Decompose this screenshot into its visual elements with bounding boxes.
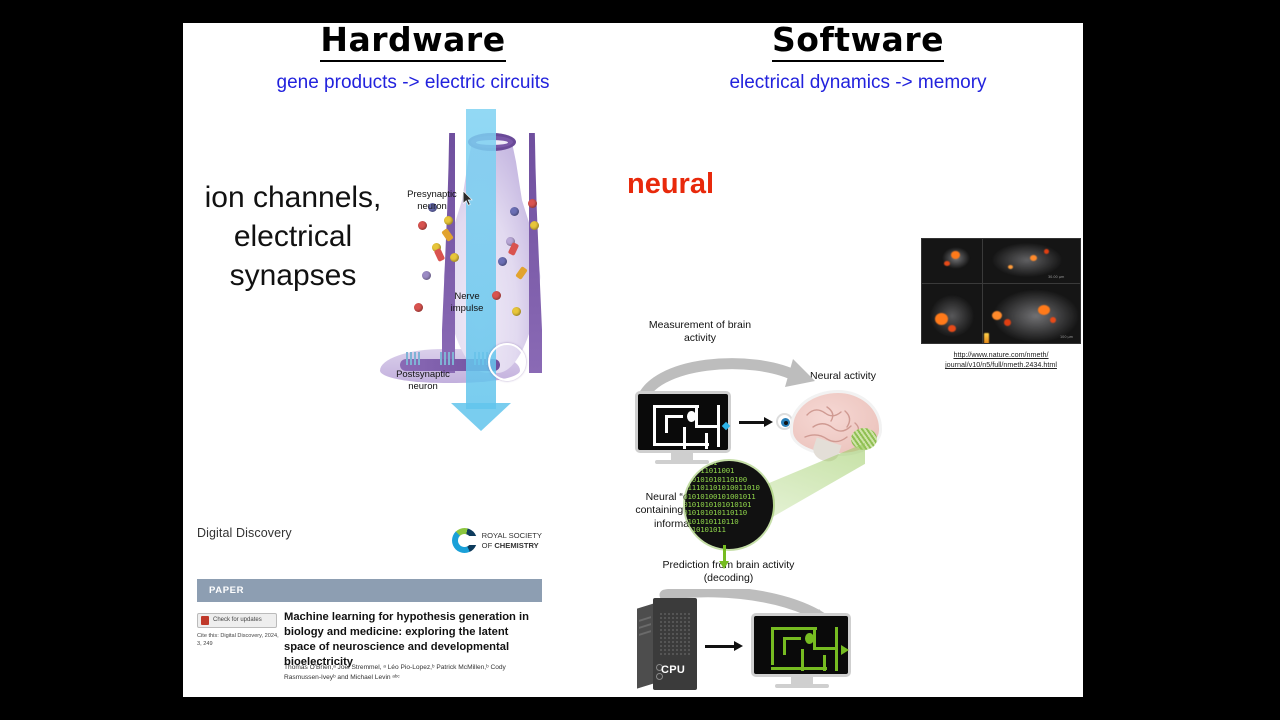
journal-paper-card: Digital Discovery ROYAL SOCIETY OF CHEMI… [197, 526, 542, 681]
mouse-cursor [463, 191, 474, 207]
column-header-hardware: Hardware gene products -> electric circu… [183, 23, 643, 94]
hardware-title: Hardware [320, 23, 505, 62]
gap-junction-channel [440, 352, 456, 365]
fluorescence-spot [948, 325, 956, 332]
nature-reference-panel: 30.00 µm 100 µm http://www.nature.com/nm… [921, 238, 1081, 398]
gap-junction-channel [406, 352, 422, 365]
paper-authors: Thomas O'Brien,ᵃ Joel Stremmel, ᵃ Léo Pi… [284, 663, 540, 683]
hardware-subtitle: gene products -> electric circuits [183, 72, 643, 94]
nature-source-url[interactable]: http://www.nature.com/nmeth/ journal/v10… [921, 350, 1081, 371]
ion-particle [512, 307, 521, 316]
nature-url-line1: http://www.nature.com/nmeth/ [921, 350, 1081, 360]
fluorescence-spot [1044, 249, 1049, 254]
crossmark-icon [201, 616, 209, 625]
scalebar-label-bottom: 100 µm [1060, 335, 1073, 339]
paper-section-label: PAPER [209, 585, 244, 596]
rsc-line2-light: OF [482, 541, 495, 550]
fluorescence-spot [951, 251, 960, 259]
ion-particle [530, 221, 539, 230]
ion-particle [418, 221, 427, 230]
paper-section-banner: PAPER [197, 579, 542, 602]
tower-side-panel [637, 603, 654, 688]
eye-icon [776, 413, 793, 430]
slide-canvas: Hardware gene products -> electric circu… [183, 23, 1083, 697]
stimulus-to-eye-arrow-icon [739, 421, 765, 424]
cpu-label: CPU [661, 664, 685, 676]
intensity-colorbar [984, 333, 989, 344]
fluorescence-spot [1004, 319, 1011, 326]
rsc-line2-bold: CHEMISTRY [494, 541, 538, 550]
brain-imaging-screenshot: 30.00 µm 100 µm [921, 238, 1081, 344]
check-for-updates-badge[interactable]: Check for updates [197, 613, 277, 628]
software-subtitle: electrical dynamics -> memory [638, 72, 1078, 94]
rsc-c-mark-icon [452, 528, 477, 553]
monitor-neck [671, 453, 693, 460]
column-header-software: Software electrical dynamics -> memory [638, 23, 1078, 94]
monitor-neck [791, 677, 813, 684]
fluorescence-spot [1030, 255, 1037, 261]
maze-stimulus [643, 399, 723, 445]
royal-society-of-chemistry-logo: ROYAL SOCIETY OF CHEMISTRY [452, 528, 542, 553]
scalebar-label-top: 30.00 µm [1048, 275, 1064, 279]
tissue-glow [992, 243, 1062, 277]
paper-title: Machine learning for hypothesis generati… [284, 610, 540, 670]
maze-prediction [759, 621, 843, 669]
fluorescence-spot [1050, 317, 1056, 323]
highlight-circle [488, 343, 526, 381]
decoding-down-arrow-icon [723, 545, 726, 561]
cpu-tower: CPU [637, 598, 697, 686]
label-presynaptic-neuron: Presynaptic neuron [396, 189, 468, 213]
ion-particle [422, 271, 431, 280]
fluorescence-spot [935, 313, 948, 325]
ion-particle [414, 303, 423, 312]
ion-particle [528, 199, 537, 208]
tower-mesh-grille [659, 612, 691, 656]
label-postsynaptic-neuron: Postsynaptic neuron [383, 369, 463, 393]
software-title: Software [772, 23, 944, 62]
rsc-wordmark: ROYAL SOCIETY OF CHEMISTRY [482, 531, 542, 550]
terminal-wall-right [529, 133, 542, 373]
cite-this-text: Cite this: Digital Discovery, 2024, 3, 2… [197, 632, 279, 648]
ion-particle [444, 216, 453, 225]
nature-url-line2: journal/v10/n5/full/nmeth.2434.html [921, 360, 1081, 370]
ion-particle [498, 257, 507, 266]
binary-code-text: 1011011 101011011001 1000101010110100 10… [685, 461, 760, 535]
brain-decoding-diagram: Measurement of brain activity Neural act… [623, 293, 893, 693]
fluorescence-spot [1008, 265, 1013, 269]
monitor-base [775, 684, 829, 688]
prediction-monitor [751, 613, 851, 677]
stimulus-monitor [635, 391, 731, 453]
binary-code-sphere: 1011011 101011011001 1000101010110100 10… [685, 461, 773, 549]
hardware-keyword-text: ion channels, electrical synapses [203, 178, 383, 295]
label-measurement-of-brain-activity: Measurement of brain activity [635, 319, 765, 346]
rsc-line1: ROYAL SOCIETY [482, 531, 542, 540]
label-nerve-impulse: Nerve impulse [438, 291, 496, 315]
software-keyword-text: neural [627, 168, 714, 201]
fluorescence-spot [944, 261, 950, 266]
check-for-updates-label: Check for updates [213, 617, 262, 623]
fluorescence-spot [1038, 305, 1050, 315]
synapse-diagram: Presynaptic neuron Nerve impulse Postsyn… [388, 121, 588, 431]
ion-particle [510, 207, 519, 216]
presentation-viewport: Hardware gene products -> electric circu… [0, 0, 1280, 720]
impulse-arrow-head [451, 403, 511, 431]
ion-particle [450, 253, 459, 262]
cpu-to-monitor-arrow-icon [705, 645, 735, 648]
fluorescence-spot [992, 311, 1002, 320]
